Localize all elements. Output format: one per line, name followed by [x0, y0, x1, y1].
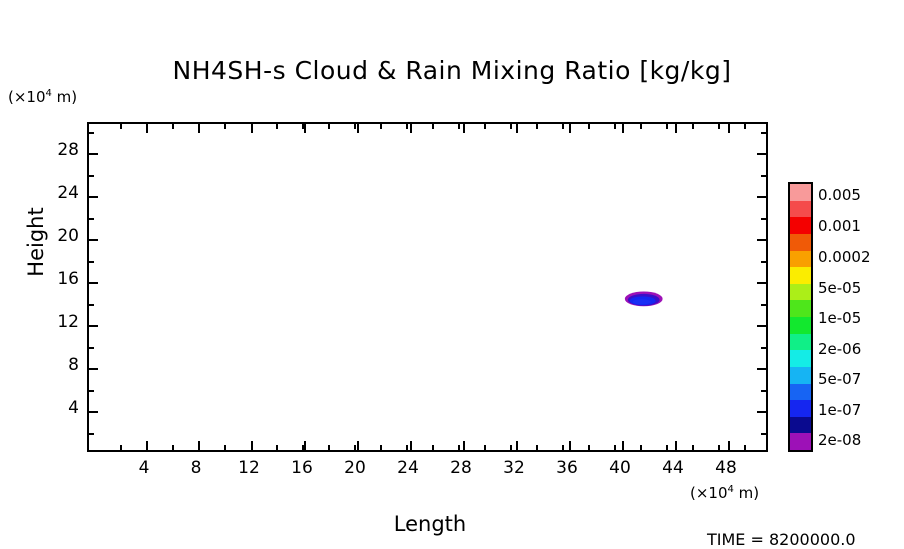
y-tick-right-minor — [761, 347, 766, 349]
x-tick-top-major-36 — [569, 124, 571, 133]
y-tick-label-4: 4 — [41, 398, 79, 418]
figure-canvas: NH4SH-s Cloud & Rain Mixing Ratio [kg/kg… — [0, 0, 904, 544]
y-tick-right-major-28 — [757, 153, 766, 155]
data-blob-layer — [89, 124, 766, 450]
x-tick-major-20 — [357, 441, 359, 450]
y-tick-right-major-24 — [757, 196, 766, 198]
x-tick-major-16 — [304, 441, 306, 450]
y-tick-right-minor — [761, 132, 766, 134]
x-tick-major-48 — [728, 441, 730, 450]
colorbar-label-4: 1e-05 — [818, 309, 861, 327]
y-tick-right-major-8 — [757, 368, 766, 370]
x-tick-top-minor — [614, 124, 616, 129]
y-tick-minor — [89, 218, 94, 220]
x-tick-top-major-40 — [622, 124, 624, 133]
x-tick-top-minor — [718, 124, 720, 129]
x-unit-tail: m) — [734, 484, 759, 502]
y-axis-title: Height — [24, 182, 48, 302]
x-tick-top-major-28 — [463, 124, 465, 133]
y-tick-major-8 — [89, 368, 98, 370]
x-tick-top-minor — [536, 124, 538, 129]
y-tick-right-major-12 — [757, 325, 766, 327]
colorbar-band-8 — [790, 317, 811, 334]
x-tick-minor — [302, 445, 304, 450]
x-tick-minor — [588, 445, 590, 450]
x-tick-top-major-48 — [728, 124, 730, 133]
colorbar-band-2 — [790, 217, 811, 234]
x-tick-top-major-24 — [410, 124, 412, 133]
y-tick-minor — [89, 261, 94, 263]
x-tick-label-48: 48 — [706, 458, 746, 478]
x-tick-label-28: 28 — [441, 458, 481, 478]
y-tick-major-12 — [89, 325, 98, 327]
x-tick-minor — [692, 445, 694, 450]
x-tick-minor — [354, 445, 356, 450]
x-tick-top-minor — [588, 124, 590, 129]
y-tick-right-minor — [761, 390, 766, 392]
y-tick-right-minor — [761, 433, 766, 435]
y-tick-minor — [89, 175, 94, 177]
colorbar-label-7: 1e-07 — [818, 401, 861, 419]
x-tick-label-8: 8 — [176, 458, 216, 478]
y-tick-right-minor — [761, 304, 766, 306]
x-tick-minor — [328, 445, 330, 450]
colorbar-band-3 — [790, 234, 811, 251]
x-tick-top-minor — [224, 124, 226, 129]
colorbar-band-6 — [790, 284, 811, 301]
colorbar-label-6: 5e-07 — [818, 370, 861, 388]
x-tick-minor — [406, 445, 408, 450]
colorbar-label-1: 0.001 — [818, 217, 861, 235]
x-tick-label-16: 16 — [282, 458, 322, 478]
x-tick-major-32 — [516, 441, 518, 450]
x-tick-top-major-4 — [146, 124, 148, 133]
x-tick-major-36 — [569, 441, 571, 450]
blob-mid-edge — [628, 294, 660, 306]
y-tick-right-major-16 — [757, 282, 766, 284]
x-tick-major-24 — [410, 441, 412, 450]
x-tick-minor — [536, 445, 538, 450]
x-tick-top-minor — [354, 124, 356, 129]
x-tick-minor — [224, 445, 226, 450]
x-tick-top-major-32 — [516, 124, 518, 133]
x-tick-label-20: 20 — [335, 458, 375, 478]
y-tick-right-minor — [761, 175, 766, 177]
x-tick-label-40: 40 — [600, 458, 640, 478]
x-tick-top-major-8 — [198, 124, 200, 133]
time-annotation: TIME = 8200000.0 — [707, 530, 856, 549]
colorbar-band-9 — [790, 334, 811, 351]
y-tick-major-20 — [89, 239, 98, 241]
y-tick-major-16 — [89, 282, 98, 284]
colorbar-band-13 — [790, 400, 811, 417]
colorbar-band-5 — [790, 267, 811, 284]
x-tick-top-minor — [640, 124, 642, 129]
x-tick-top-minor — [328, 124, 330, 129]
colorbar-band-1 — [790, 201, 811, 218]
y-unit-base: (×10 — [8, 88, 46, 106]
colorbar-label-5: 2e-06 — [818, 340, 861, 358]
y-tick-label-8: 8 — [41, 355, 79, 375]
x-tick-minor — [666, 445, 668, 450]
plot-area — [87, 122, 768, 452]
x-tick-major-44 — [675, 441, 677, 450]
x-tick-minor — [562, 445, 564, 450]
colorbar-label-2: 0.0002 — [818, 248, 871, 266]
y-unit-tail: m) — [52, 88, 77, 106]
x-tick-minor — [120, 445, 122, 450]
blob-core-inner — [633, 299, 651, 304]
x-tick-minor — [614, 445, 616, 450]
x-tick-major-8 — [198, 441, 200, 450]
x-tick-minor — [276, 445, 278, 450]
y-tick-major-28 — [89, 153, 98, 155]
x-tick-major-4 — [146, 441, 148, 450]
x-tick-top-major-44 — [675, 124, 677, 133]
x-tick-minor — [718, 445, 720, 450]
colorbar-label-8: 2e-08 — [818, 431, 861, 449]
y-tick-minor — [89, 132, 94, 134]
y-tick-right-major-20 — [757, 239, 766, 241]
x-tick-top-minor — [172, 124, 174, 129]
x-tick-top-minor — [302, 124, 304, 129]
x-tick-top-minor — [510, 124, 512, 129]
x-tick-top-minor — [666, 124, 668, 129]
y-tick-minor — [89, 304, 94, 306]
x-tick-label-36: 36 — [547, 458, 587, 478]
x-tick-top-minor — [562, 124, 564, 129]
x-tick-top-minor — [744, 124, 746, 129]
colorbar-band-11 — [790, 367, 811, 384]
y-tick-minor — [89, 433, 94, 435]
x-tick-minor — [510, 445, 512, 450]
y-axis-unit: (×104 m) — [8, 88, 77, 106]
y-tick-major-4 — [89, 411, 98, 413]
colorbar-band-12 — [790, 384, 811, 401]
x-tick-minor — [380, 445, 382, 450]
colorbar-band-7 — [790, 300, 811, 317]
y-tick-label-28: 28 — [41, 140, 79, 160]
x-tick-minor — [744, 445, 746, 450]
colorbar-band-14 — [790, 417, 811, 434]
x-tick-minor — [458, 445, 460, 450]
x-tick-top-minor — [276, 124, 278, 129]
x-tick-top-minor — [380, 124, 382, 129]
y-tick-right-major-4 — [757, 411, 766, 413]
blob-core — [630, 296, 656, 305]
x-tick-label-44: 44 — [653, 458, 693, 478]
x-tick-top-minor — [406, 124, 408, 129]
colorbar-band-4 — [790, 251, 811, 268]
x-unit-base: (×10 — [690, 484, 728, 502]
x-tick-minor — [640, 445, 642, 450]
y-tick-minor — [89, 347, 94, 349]
y-tick-minor — [89, 390, 94, 392]
colorbar-band-10 — [790, 350, 811, 367]
x-tick-top-minor — [120, 124, 122, 129]
blob-outer-edge — [625, 291, 663, 306]
colorbar — [788, 182, 813, 452]
y-tick-right-minor — [761, 261, 766, 263]
page-title: NH4SH-s Cloud & Rain Mixing Ratio [kg/kg… — [0, 56, 904, 85]
x-tick-label-24: 24 — [388, 458, 428, 478]
x-tick-top-minor — [484, 124, 486, 129]
colorbar-label-0: 0.005 — [818, 186, 861, 204]
x-tick-top-minor — [432, 124, 434, 129]
colorbar-band-0 — [790, 184, 811, 201]
x-tick-major-12 — [251, 441, 253, 450]
x-tick-major-28 — [463, 441, 465, 450]
y-tick-major-24 — [89, 196, 98, 198]
y-tick-label-12: 12 — [41, 312, 79, 332]
x-axis-unit: (×104 m) — [690, 484, 759, 502]
colorbar-label-3: 5e-05 — [818, 279, 861, 297]
x-tick-minor — [172, 445, 174, 450]
x-tick-top-major-16 — [304, 124, 306, 133]
x-tick-minor — [432, 445, 434, 450]
x-tick-minor — [484, 445, 486, 450]
x-tick-label-4: 4 — [124, 458, 164, 478]
x-tick-top-minor — [692, 124, 694, 129]
x-tick-major-40 — [622, 441, 624, 450]
colorbar-band-15 — [790, 433, 811, 450]
x-tick-top-minor — [458, 124, 460, 129]
x-tick-label-12: 12 — [229, 458, 269, 478]
x-tick-top-major-12 — [251, 124, 253, 133]
x-tick-top-major-20 — [357, 124, 359, 133]
x-tick-label-32: 32 — [494, 458, 534, 478]
y-tick-right-minor — [761, 218, 766, 220]
